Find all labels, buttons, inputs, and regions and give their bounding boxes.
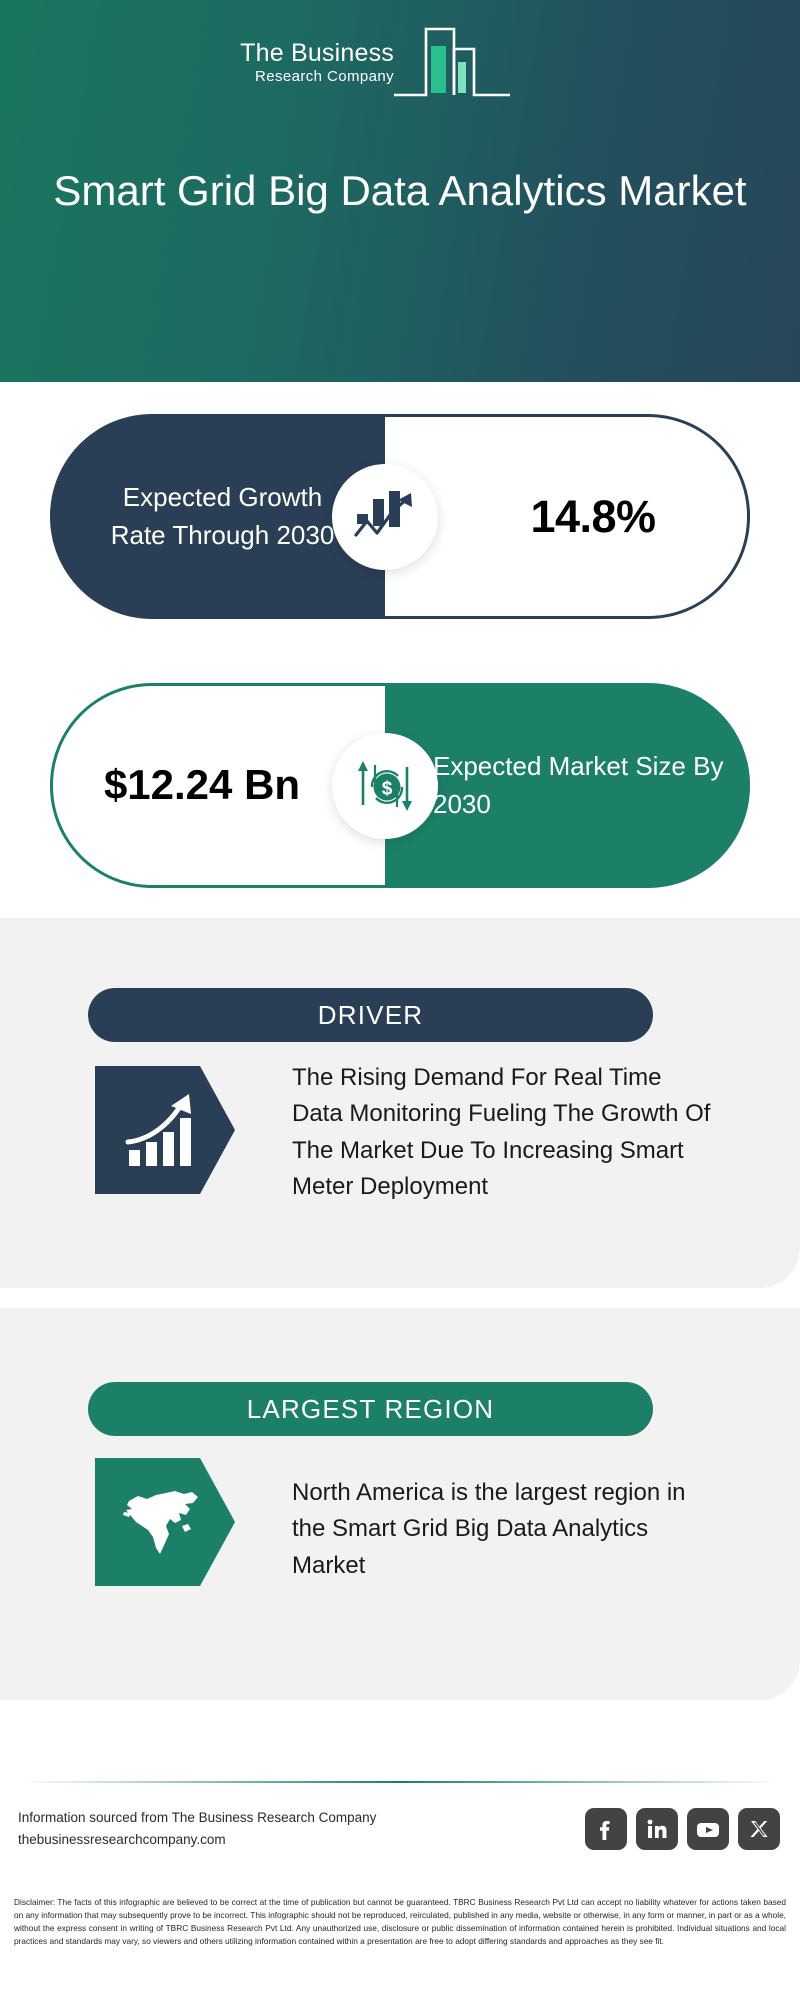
stat-label-growth: Expected Growth Rate Through 2030: [93, 479, 343, 554]
footer-source: Information sourced from The Business Re…: [18, 1807, 448, 1850]
stat-card-market-size: $12.24 Bn Expected Market Size By 2030 $: [50, 683, 750, 888]
footer-divider: [18, 1781, 782, 1783]
stat-value-size: $12.24 Bn: [94, 758, 344, 813]
page-title: Smart Grid Big Data Analytics Market: [40, 165, 760, 217]
stat-card-growth-rate: Expected Growth Rate Through 2030 14.8%: [50, 414, 750, 619]
logo-line-2: Research Company: [240, 69, 394, 84]
section-body-region: North America is the largest region in t…: [292, 1475, 712, 1584]
bar-chart-logo-icon: [392, 25, 512, 103]
svg-text:$: $: [382, 779, 393, 800]
stat-label-size: Expected Market Size By 2030: [385, 748, 750, 823]
dollar-cycle-icon: $: [352, 753, 418, 819]
footer-source-line-1: Information sourced from The Business Re…: [18, 1807, 448, 1829]
linkedin-icon[interactable]: [636, 1808, 678, 1850]
stat-value-panel-growth: 14.8%: [385, 414, 750, 619]
company-logo: The Business Research Company: [222, 25, 512, 103]
section-pill-region: LARGEST REGION: [88, 1382, 653, 1436]
footer-source-line-2: thebusinessresearchcompany.com: [18, 1829, 448, 1851]
social-links[interactable]: [585, 1808, 780, 1850]
growth-bar-chart-icon: [125, 1092, 205, 1168]
stat-value-growth: 14.8%: [476, 491, 655, 543]
header-banner: The Business Research Company Smart Grid…: [0, 0, 800, 382]
north-america-map-icon: [122, 1482, 208, 1562]
section-pill-driver: DRIVER: [88, 988, 653, 1042]
stat-label-panel-size: Expected Market Size By 2030: [385, 683, 750, 888]
bar-chart-arrow-up-icon: [353, 487, 417, 547]
youtube-icon[interactable]: [687, 1808, 729, 1850]
x-twitter-icon[interactable]: [738, 1808, 780, 1850]
section-body-driver: The Rising Demand For Real Time Data Mon…: [292, 1060, 712, 1206]
facebook-icon[interactable]: [585, 1808, 627, 1850]
stat-icon-badge-size: $: [332, 733, 438, 839]
logo-line-1: The Business: [240, 41, 394, 66]
footer-disclaimer: Disclaimer: The facts of this infographi…: [14, 1896, 786, 1948]
stat-icon-badge-growth: [332, 464, 438, 570]
logo-wordmark: The Business Research Company: [240, 41, 394, 84]
